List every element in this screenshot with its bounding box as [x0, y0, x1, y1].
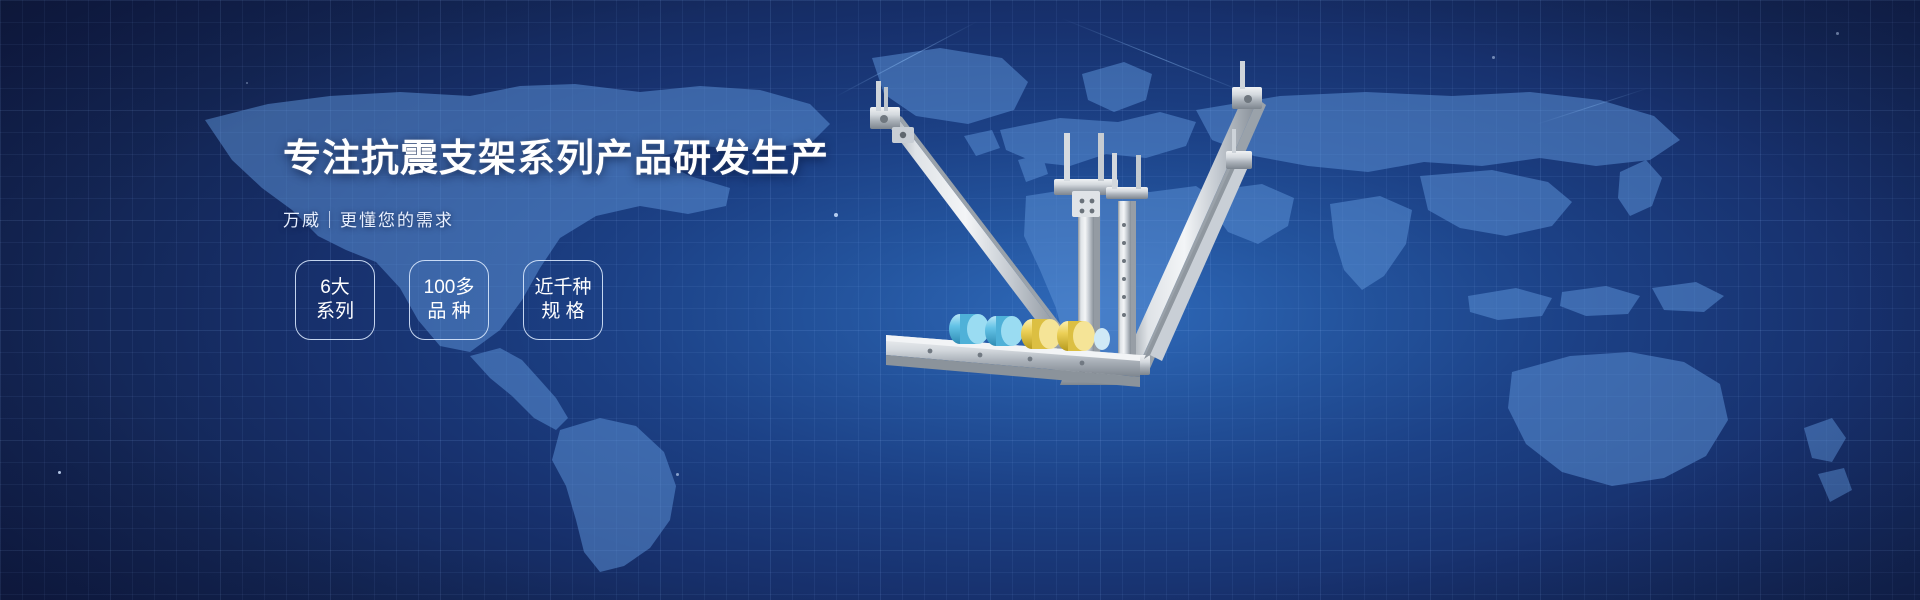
stat-badge-label: 系列: [316, 300, 354, 324]
banner-copy: 专注抗震支架系列产品研发生产 万威｜更懂您的需求: [283, 140, 803, 231]
sparkle-dot: [246, 82, 248, 84]
sparkle-dot: [676, 473, 679, 476]
banner-subtitle: 万威｜更懂您的需求: [283, 206, 803, 231]
stat-badge-value: 近千种: [534, 276, 591, 300]
stat-badge-group: 6大 系列 100多 品 种 近千种 规 格: [295, 260, 603, 340]
stat-badge-label: 品 种: [427, 300, 470, 324]
sparkle-dot: [58, 471, 61, 474]
page-title: 专注抗震支架系列产品研发生产: [283, 140, 803, 178]
sparkle-dot: [1836, 32, 1839, 35]
stat-badge-varieties[interactable]: 100多 品 种: [409, 260, 489, 340]
product-image-seismic-bracing: [820, 55, 1380, 405]
stat-badge-series[interactable]: 6大 系列: [295, 260, 375, 340]
stat-badge-specs[interactable]: 近千种 规 格: [523, 260, 603, 340]
stat-badge-value: 6大: [320, 276, 350, 300]
stat-badge-value: 100多: [424, 276, 475, 300]
stat-badge-label: 规 格: [541, 300, 584, 324]
hero-banner: 专注抗震支架系列产品研发生产 万威｜更懂您的需求 6大 系列 100多 品 种 …: [0, 0, 1920, 600]
sparkle-dot: [1492, 56, 1495, 59]
